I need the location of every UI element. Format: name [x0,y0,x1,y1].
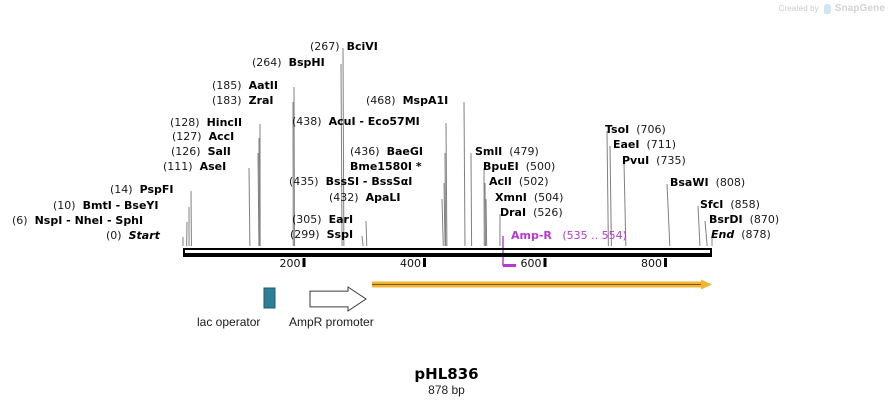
enzyme-label-bcivi[interactable]: (267) BciVI [310,41,378,53]
enzyme-sep-acui: - [356,115,368,128]
enzyme-pos-pspfi: (14) [110,183,133,196]
enzyme-name-bsawi: BsaWI [670,176,709,189]
enzyme-pos-eaei: (711) [647,138,677,151]
enzyme-name-aatii: AatII [249,79,278,92]
enzyme-label-bme1580i[interactable]: Bme1580I * [350,161,422,173]
enzyme-pos-bmti: (10) [53,199,76,212]
enzyme-pos-sfci: (858) [730,198,760,211]
enzyme-name-bme1580i: Bme1580I * [350,160,422,173]
enzyme-label-acci[interactable]: (127) AccI [172,131,234,143]
enzyme-pos-smli: (479) [509,145,539,158]
enzyme-pos-end: (878) [741,228,771,241]
enzyme-pos-sspi: (299) [290,228,320,241]
enzyme-name-drai: DraI [500,206,526,219]
enzyme-label-zrai[interactable]: (183) ZraI [212,95,274,107]
enzyme-pos-eari: (305) [292,213,322,226]
enzyme-pos-aatii: (185) [212,79,242,92]
enzyme-name-hincii: HincII [207,116,243,129]
enzyme-label-mspa1i[interactable]: (468) MspA1I [366,95,448,107]
leader-line-xmni [486,199,487,246]
enzyme-label-pspfi[interactable]: (14) PspFI [110,184,174,196]
enzyme-name-sali: SalI [208,145,231,158]
enzyme-pos-bsrdi: (870) [750,213,780,226]
enzyme-pos-acci: (127) [172,130,202,143]
enzyme-sep-bmti: - [112,199,124,212]
enzyme-label-smli[interactable]: SmlI (479) [475,146,539,158]
enzyme-name-acui: AcuI [329,115,356,128]
enzyme-name-asei: AseI [200,160,227,173]
enzyme-name2-bsssi: BssSαI [371,175,412,188]
backbone-line-lower [183,253,712,257]
amp-r-range-label[interactable]: Amp-R (535 .. 554) [511,230,627,242]
leader-line-eari [366,221,367,246]
leader-line-smli [471,153,472,246]
enzyme-pos-bsssi: (435) [289,175,319,188]
enzyme-name-apali: ApaLI [366,191,401,204]
enzyme-label-nspi[interactable]: (6) NspI - NheI - SphI [12,215,143,227]
enzyme-label-bpuei[interactable]: BpuEI (500) [483,161,555,173]
enzyme-pos-aclii: (502) [519,175,549,188]
feature-lac-operator[interactable] [264,288,275,308]
enzyme-label-eaei[interactable]: EaeI (711) [613,139,676,151]
ruler-tick-200 [303,258,306,267]
enzyme-name-sfci: SfcI [700,198,723,211]
enzyme-name-aclii: AclI [489,175,512,188]
ruler-tick-800 [664,258,667,267]
feature-label-ampr-promoter: AmpR promoter [289,315,374,329]
enzyme-name-end: End [711,228,734,241]
enzyme-label-hincii[interactable]: (128) HincII [170,117,242,129]
ruler-tick-label-200: 200 [277,257,301,270]
ruler-tick-label-400: 400 [397,257,421,270]
leader-line-sspi [362,236,363,246]
enzyme-label-sfci[interactable]: SfcI (858) [700,199,760,211]
page-title: pHL836 [0,365,893,383]
enzyme-pos-sali: (126) [171,145,201,158]
enzyme-name-sspi: SspI [327,228,353,241]
backbone-line-upper [183,248,712,250]
plasmid-length: 878 bp [0,383,893,397]
enzyme-label-apali[interactable]: (432) ApaLI [329,192,401,204]
enzyme-pos-baegi: (436) [350,145,380,158]
enzyme-name2-bmti: BseYI [124,199,158,212]
enzyme-label-xmni[interactable]: XmnI (504) [495,192,563,204]
enzyme-label-sspi[interactable]: (299) SspI [290,229,353,241]
enzyme-pos-apali: (432) [329,191,359,204]
enzyme-name-eaei: EaeI [613,138,640,151]
enzyme-pos-bsawi: (808) [716,176,746,189]
enzyme-pos-tsoi: (706) [636,123,666,136]
enzyme-name-eari: EarI [329,213,353,226]
enzyme-label-asei[interactable]: (111) AseI [163,161,226,173]
enzyme-name-zrai: ZraI [249,94,274,107]
leader-line-apali [442,199,443,246]
enzyme-label-bsssi[interactable]: (435) BssSI - BssSαI [289,176,412,188]
leader-line-asei [249,168,250,246]
enzyme-name-acci: AccI [209,130,235,143]
enzyme-name-bmti: BmtI [83,199,112,212]
enzyme-name-tsoi: TsoI [605,123,629,136]
feature-ampr-promoter[interactable] [310,287,366,311]
enzyme-name-pspfi: PspFI [140,183,174,196]
enzyme-label-bsrdi[interactable]: BsrDI (870) [709,214,779,226]
enzyme-label-sali[interactable]: (126) SalI [171,146,231,158]
enzyme-name-bcivi: BciVI [347,40,378,53]
enzyme-name-baegi: BaeGI [387,145,423,158]
backbone-cap-right [710,248,712,257]
leader-line-mspa1i [464,102,465,246]
leader-line-sfci [698,206,700,246]
enzyme-label-aatii[interactable]: (185) AatII [212,80,278,92]
enzyme-pos-asei: (111) [163,160,193,173]
enzyme-pos-drai: (526) [533,206,563,219]
enzyme-pos-mspa1i: (468) [366,94,396,107]
enzyme-label-baegi[interactable]: (436) BaeGI [350,146,423,158]
feature-label-lac-operator: lac operator [197,315,260,329]
enzyme-pos-xmni: (504) [534,191,564,204]
enzyme-name-xmni: XmnI [495,191,527,204]
enzyme-name-bsphi: BspHI [289,56,325,69]
enzyme-label-eari[interactable]: (305) EarI [292,214,353,226]
enzyme-label-bmti[interactable]: (10) BmtI - BseYI [53,200,158,212]
amp-r-name: Amp-R [511,229,552,242]
enzyme-name2-acui: Eco57MI [368,115,420,128]
enzyme-label-aclii[interactable]: AclI (502) [489,176,549,188]
enzyme-name-nspi: NspI [35,214,63,227]
enzyme-label-drai[interactable]: DraI (526) [500,207,563,219]
ruler-tick-label-600: 600 [518,257,542,270]
enzyme-pos-hincii: (128) [170,116,200,129]
leader-line-bsawi [667,184,670,246]
amp-r-range: (535 .. 554) [562,229,627,242]
enzyme-label-start[interactable]: (0) Start [106,230,160,242]
amp-r-range-bar[interactable] [503,264,516,267]
enzyme-name-start: Start [129,229,160,242]
feature-ampr-cds-arrowhead[interactable] [701,280,712,290]
leader-line-acui [446,123,447,246]
enzyme-sep-bsssi: - [359,175,371,188]
enzyme-sep2-nspi: - [103,214,115,227]
enzyme-pos-bsphi: (264) [252,56,282,69]
enzyme-label-bsawi[interactable]: BsaWI (808) [670,177,745,189]
enzyme-name-pvui: PvuI [622,154,649,167]
enzyme-name2-nspi: NheI [75,214,104,227]
enzyme-label-acui[interactable]: (438) AcuI - Eco57MI [292,116,420,128]
ruler-tick-600 [544,258,547,267]
enzyme-pos-zrai: (183) [212,94,242,107]
enzyme-label-end[interactable]: End (878) [711,229,771,241]
enzyme-name-bsrdi: BsrDI [709,213,743,226]
backbone-cap-left [183,248,185,257]
enzyme-sep-nspi: - [62,214,74,227]
ruler-tick-400 [423,258,426,267]
enzyme-name-mspa1i: MspA1I [403,94,449,107]
enzyme-pos-bpuei: (500) [526,160,556,173]
enzyme-pos-start: (0) [106,229,122,242]
enzyme-label-tsoi[interactable]: TsoI (706) [605,124,666,136]
enzyme-name-bsssi: BssSI [326,175,360,188]
plasmid-map-canvas: Created by SnapGene (267) BciVI(264) Bsp… [0,0,893,404]
enzyme-label-bsphi[interactable]: (264) BspHI [252,57,325,69]
enzyme-label-pvui[interactable]: PvuI (735) [622,155,686,167]
enzyme-pos-pvui: (735) [656,154,686,167]
enzyme-pos-bcivi: (267) [310,40,340,53]
enzyme-pos-acui: (438) [292,115,322,128]
leader-line-bsrdi [705,221,707,246]
enzyme-name-bpuei: BpuEI [483,160,519,173]
enzyme-name-smli: SmlI [475,145,502,158]
enzyme-pos-nspi: (6) [12,214,28,227]
enzyme-name3-nspi: SphI [115,214,143,227]
ruler-tick-label-800: 800 [638,257,662,270]
